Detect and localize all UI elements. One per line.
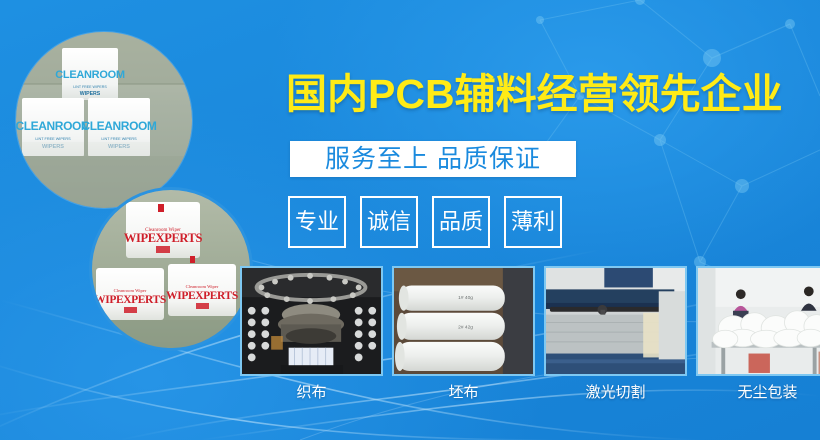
thumbnail-caption: 无尘包装 — [696, 385, 820, 400]
process-thumbnail: 1# 40g 2# 42g 坯布 — [392, 266, 535, 400]
slogan-bar: 服务至上 品质保证 — [290, 141, 576, 177]
svg-text:LINT FREE WIPERS: LINT FREE WIPERS — [101, 137, 137, 141]
thumbnail-frame: 1# 40g 2# 42g — [392, 266, 535, 376]
thumbnail-frame — [544, 266, 687, 376]
svg-text:Cleanroom Wiper: Cleanroom Wiper — [186, 284, 219, 289]
cleanroom-wipes-photo: CLEANROOM LINT FREE WIPERS WIPERS CLEANR… — [16, 32, 192, 208]
svg-text:LINT FREE WIPERS: LINT FREE WIPERS — [35, 137, 71, 141]
process-thumbnail: 无尘包装 — [696, 266, 820, 400]
svg-text:CLEANROOM: CLEANROOM — [16, 119, 91, 133]
process-thumbnail-strip: 织布 — [240, 266, 820, 400]
cleanroom-wipes-circle: CLEANROOM LINT FREE WIPERS WIPERS CLEANR… — [16, 32, 192, 208]
feature-tag: 专业 — [288, 196, 346, 248]
thumbnail-frame — [696, 266, 820, 376]
thumbnail-caption: 织布 — [240, 385, 383, 400]
wipexperts-circle: Cleanroom Wiper WIPEXPERTS Cleanroom Wip… — [92, 190, 250, 348]
feature-tag: 诚信 — [360, 196, 418, 248]
svg-text:Cleanroom Wiper: Cleanroom Wiper — [114, 288, 147, 293]
svg-text:LINT FREE WIPERS: LINT FREE WIPERS — [73, 85, 107, 89]
laser-cutting-machine-photo — [546, 268, 685, 375]
feature-tag-group: 专业 诚信 品质 薄利 — [288, 196, 562, 248]
process-thumbnail: 激光切割 — [544, 266, 687, 400]
thumbnail-frame — [240, 266, 383, 376]
feature-tag-label: 薄利 — [511, 211, 555, 233]
feature-tag-label: 专业 — [295, 211, 339, 233]
feature-tag: 薄利 — [504, 196, 562, 248]
knitting-machine-photo — [242, 268, 381, 375]
greige-fabric-rolls-photo: 1# 40g 2# 42g — [394, 268, 533, 375]
svg-text:WIPEXPERTS: WIPEXPERTS — [166, 290, 238, 302]
thumbnail-caption: 坯布 — [392, 385, 535, 400]
svg-text:2# 42g: 2# 42g — [458, 324, 473, 330]
svg-text:1# 40g: 1# 40g — [458, 295, 473, 301]
slogan-text: 服务至上 品质保证 — [325, 147, 541, 172]
promotional-banner: CLEANROOM LINT FREE WIPERS WIPERS CLEANR… — [0, 0, 820, 440]
svg-text:WIPERS: WIPERS — [80, 91, 101, 97]
svg-text:WIPEXPERTS: WIPEXPERTS — [94, 294, 166, 306]
process-thumbnail: 织布 — [240, 266, 383, 400]
wipexperts-packages-photo: Cleanroom Wiper WIPEXPERTS Cleanroom Wip… — [92, 190, 250, 348]
thumbnail-caption: 激光切割 — [544, 385, 687, 400]
svg-text:CLEANROOM: CLEANROOM — [81, 119, 156, 133]
cleanroom-packaging-photo — [698, 268, 820, 375]
feature-tag-label: 品质 — [439, 211, 483, 233]
svg-text:CLEANROOM: CLEANROOM — [55, 69, 125, 81]
feature-tag: 品质 — [432, 196, 490, 248]
svg-text:WIPEXPERTS: WIPEXPERTS — [124, 231, 203, 245]
feature-tag-label: 诚信 — [367, 211, 411, 233]
banner-headline: 国内PCB辅料经营领先企业 — [286, 74, 783, 115]
